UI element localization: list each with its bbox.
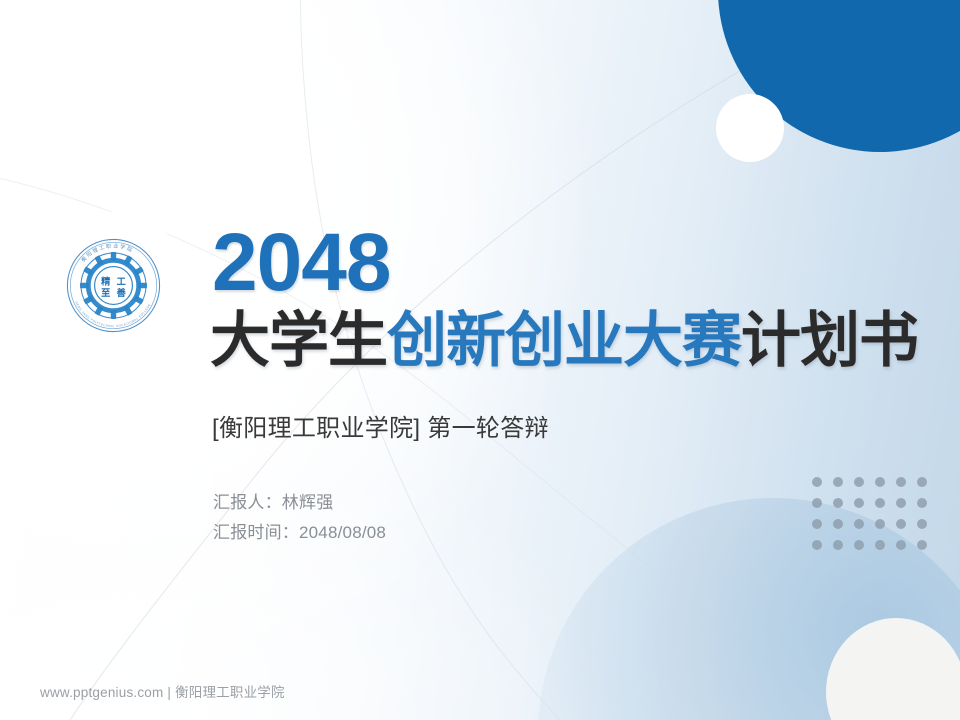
- grid-dot: [833, 519, 843, 529]
- grid-dot: [875, 498, 885, 508]
- grid-dot: [896, 519, 906, 529]
- footer-credit: www.pptgenius.com | 衡阳理工职业学院: [40, 681, 285, 701]
- grid-dot: [812, 498, 822, 508]
- grid-dot: [875, 477, 885, 487]
- university-logo-icon: 精 工 至 善 衡阳理工职业学院 HENG YANG POLYTECHNIC V…: [65, 237, 162, 334]
- grid-dot: [896, 477, 906, 487]
- svg-text:工: 工: [117, 277, 126, 288]
- grid-dot: [812, 477, 822, 487]
- headline-lead: 大学生: [210, 307, 387, 374]
- grid-dot: [917, 540, 927, 550]
- grid-dot: [917, 498, 927, 508]
- date-line: 汇报时间：2048/08/08: [213, 518, 386, 548]
- grid-dot: [833, 540, 843, 550]
- grid-dot: [917, 519, 927, 529]
- headline-tail: 计划书: [741, 307, 918, 374]
- background-light-bottom: [0, 400, 620, 720]
- subtitle: [衡阳理工职业学院] 第一轮答辩: [212, 408, 549, 443]
- presentation-slide: 精 工 至 善 衡阳理工职业学院 HENG YANG POLYTECHNIC V…: [0, 0, 960, 720]
- grid-dot: [896, 498, 906, 508]
- presentation-meta: 汇报人：林辉强 汇报时间：2048/08/08: [213, 488, 386, 548]
- svg-text:精: 精: [101, 276, 111, 288]
- grid-dot: [875, 540, 885, 550]
- year-title: 2048: [212, 222, 390, 304]
- main-headline: 大学生创新创业大赛计划书: [210, 308, 918, 374]
- grid-dot: [812, 540, 822, 550]
- dot-grid-decoration: [806, 471, 934, 557]
- svg-text:至: 至: [101, 288, 110, 299]
- grid-dot: [833, 477, 843, 487]
- grid-dot: [854, 540, 864, 550]
- grid-dot: [854, 498, 864, 508]
- grid-dot: [812, 519, 822, 529]
- headline-accent: 创新创业大赛: [387, 307, 741, 374]
- svg-text:善: 善: [117, 287, 126, 299]
- presenter-line: 汇报人：林辉强: [213, 488, 386, 518]
- grid-dot: [896, 540, 906, 550]
- grid-dot: [854, 477, 864, 487]
- grid-dot: [833, 498, 843, 508]
- grid-dot: [854, 519, 864, 529]
- grid-dot: [875, 519, 885, 529]
- grid-dot: [917, 477, 927, 487]
- white-circle-decoration-top: [716, 94, 784, 162]
